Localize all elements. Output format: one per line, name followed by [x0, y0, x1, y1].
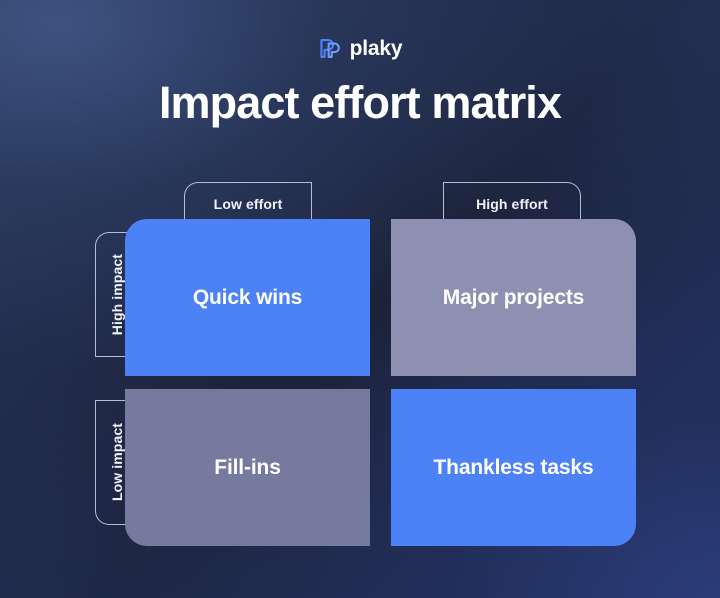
quadrant-major-projects[interactable]: Major projects: [391, 219, 636, 376]
plaky-logo-icon: [318, 37, 341, 60]
column-label-high-effort-text: High effort: [476, 196, 548, 212]
quadrant-major-projects-label: Major projects: [443, 286, 584, 310]
quadrant-thankless-tasks[interactable]: Thankless tasks: [391, 389, 636, 546]
column-label-high-effort: High effort: [443, 182, 581, 224]
slide-canvas: plaky Impact effort matrix Low effort Hi…: [0, 0, 720, 598]
quadrant-quick-wins[interactable]: Quick wins: [125, 219, 370, 376]
column-label-low-effort-text: Low effort: [214, 196, 283, 212]
quadrant-thankless-tasks-label: Thankless tasks: [433, 456, 593, 480]
quadrant-fill-ins[interactable]: Fill-ins: [125, 389, 370, 546]
brand-logo: plaky: [0, 33, 720, 63]
row-label-low-impact-text: Low impact: [110, 423, 124, 501]
brand-name: plaky: [350, 38, 403, 59]
quadrant-fill-ins-label: Fill-ins: [214, 456, 280, 480]
quadrant-quick-wins-label: Quick wins: [193, 286, 302, 310]
column-label-low-effort: Low effort: [184, 182, 312, 224]
row-label-high-impact-text: High impact: [110, 254, 124, 335]
page-title: Impact effort matrix: [0, 76, 720, 129]
